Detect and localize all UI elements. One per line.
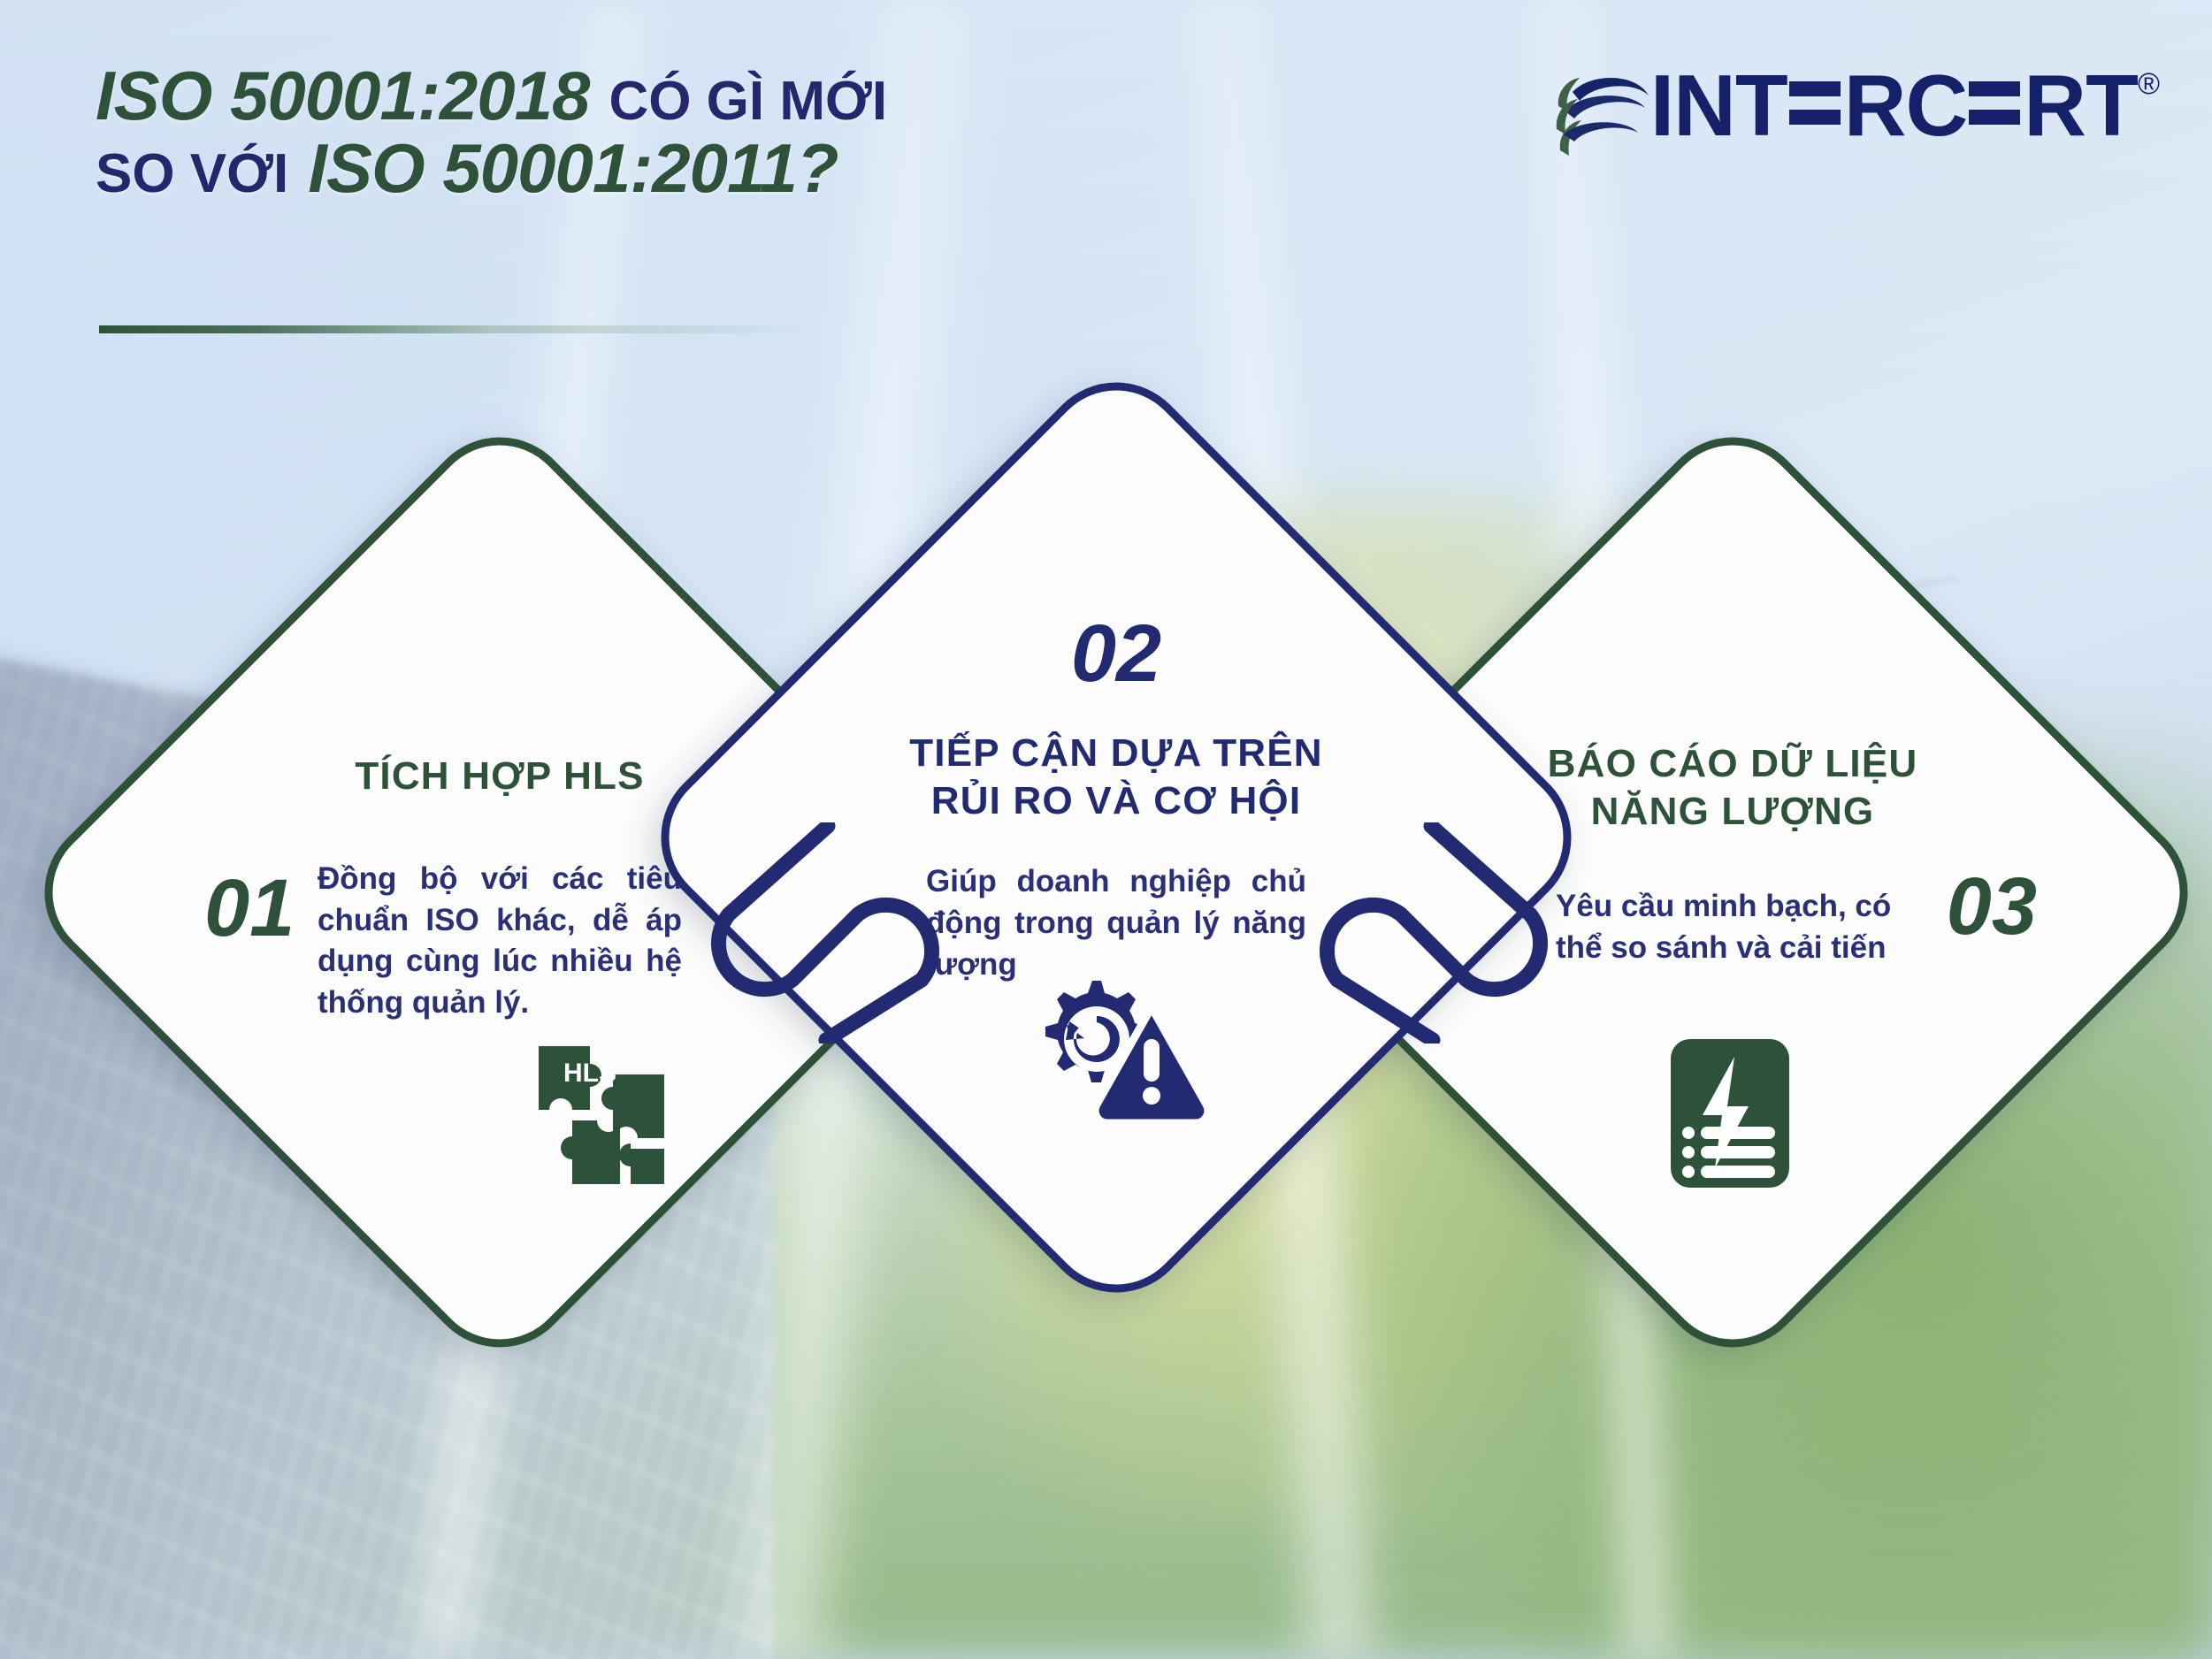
card-3-title: BÁO CÁO DỮ LIỆU NĂNG LƯỢNG xyxy=(1538,740,1927,835)
page-title: ISO 50001:2018CÓ GÌ MỚI SO VỚIISO 50001:… xyxy=(96,60,887,205)
connector-2-3 xyxy=(1284,822,1585,1044)
gear-warning-icon xyxy=(1010,970,1222,1134)
card-2-body: Giúp doanh nghiệp chủ động trong quản lý… xyxy=(926,861,1306,986)
title-standard-2018: ISO 50001:2018 xyxy=(96,57,589,134)
connector-1-2 xyxy=(670,822,971,1044)
logo-e-glyph xyxy=(1789,74,1841,134)
logo-wordmark: INT RC RT ® xyxy=(1650,62,2159,149)
title-compare-label: SO VỚI xyxy=(96,143,288,204)
card-2-title: TIẾP CẬN DỰA TRÊN RỦI RO VÀ CƠ HỘI xyxy=(908,730,1324,824)
card-1-title: TÍCH HỢP HLS xyxy=(355,753,644,800)
title-line-1: ISO 50001:2018CÓ GÌ MỚI xyxy=(96,60,887,133)
cards-stage: TÍCH HỢP HLS Đồng bộ với các tiêu chuẩn … xyxy=(0,0,2212,1659)
intercert-logo[interactable]: INT RC RT ® xyxy=(1550,62,2159,166)
card-3-number: 03 xyxy=(1947,866,2037,947)
title-question-a: CÓ GÌ MỚI xyxy=(608,71,887,132)
registered-trademark-icon: ® xyxy=(2138,69,2159,99)
logo-e-glyph xyxy=(1969,74,2020,134)
card-1-number: 01 xyxy=(204,868,295,949)
globe-swoosh-icon xyxy=(1550,62,1656,166)
hls-puzzle-icon: HLS xyxy=(533,1041,682,1194)
logo-text-part3: RT xyxy=(2024,62,2138,149)
energy-report-icon xyxy=(1664,1034,1796,1197)
title-standard-2011: ISO 50001:2011? xyxy=(308,129,838,207)
card-1-body: Đồng bộ với các tiêu chuẩn ISO khác, dễ … xyxy=(318,859,682,1025)
hls-icon-label: HLS xyxy=(563,1059,616,1088)
logo-text-part1: INT xyxy=(1650,62,1787,149)
card-3-body: Yêu cầu minh bạch, có thể so sánh và cải… xyxy=(1556,886,1910,969)
logo-text-part2: RC xyxy=(1844,62,1968,149)
title-line-2: SO VỚIISO 50001:2011? xyxy=(96,133,887,205)
title-divider xyxy=(99,325,807,333)
card-2-number: 02 xyxy=(1071,613,1161,694)
